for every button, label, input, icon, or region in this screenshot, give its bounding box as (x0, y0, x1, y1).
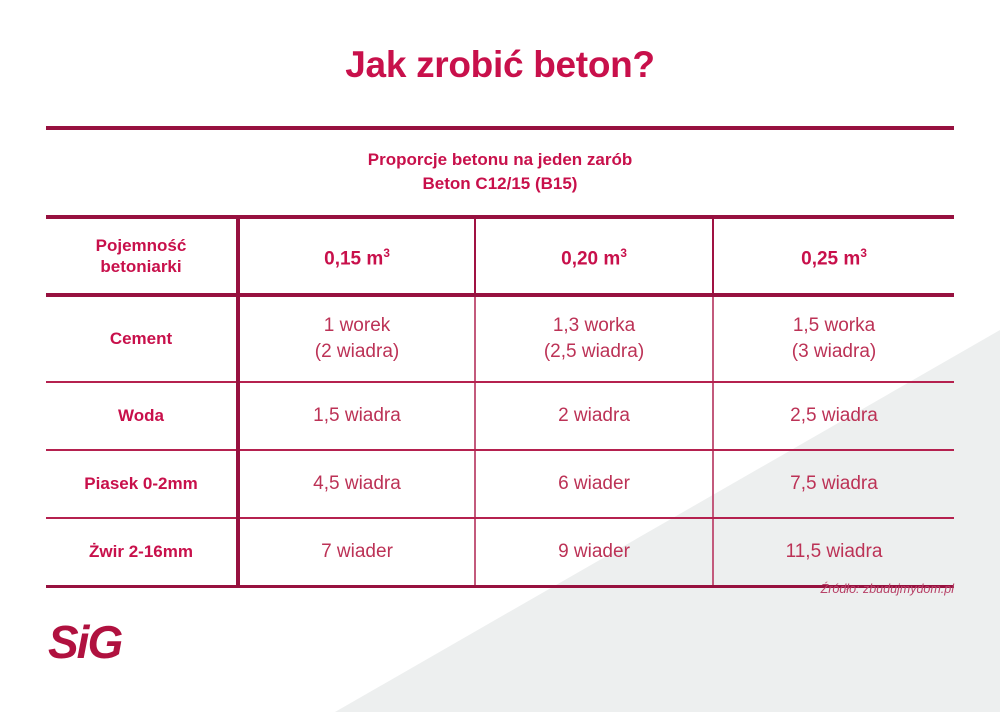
header-cell-volume-1: 0,15 m3 (238, 217, 475, 295)
subtitle-line-1: Proporcje betonu na jeden zarób (368, 150, 632, 169)
volume-2-unit: m (603, 248, 620, 269)
cell-woda-0_15: 1,5 wiadra (238, 382, 475, 450)
mixer-capacity-line-2: betoniarki (100, 257, 181, 276)
volume-2-value: 0,20 (561, 248, 598, 269)
subtitle-line-2: Beton C12/15 (B15) (0, 172, 1000, 196)
source-attribution: Źródło: zbudujmydom.pl (821, 582, 954, 596)
volume-3-unit: m (843, 248, 860, 269)
volume-3-value: 0,25 (801, 248, 838, 269)
table-row: Piasek 0-2mm 4,5 wiadra 6 wiader 7,5 wia… (46, 450, 954, 518)
row-label-cement: Cement (46, 295, 238, 382)
header-cell-mixer-capacity: Pojemność betoniarki (46, 217, 238, 295)
row-label-woda: Woda (46, 382, 238, 450)
header-cell-volume-2: 0,20 m3 (475, 217, 713, 295)
cell-main: 1 worek (324, 315, 391, 336)
table-row: Woda 1,5 wiadra 2 wiadra 2,5 wiadra (46, 382, 954, 450)
cell-main: 1,5 worka (793, 315, 875, 336)
volume-1-value: 0,15 (324, 248, 361, 269)
table-header-row: Pojemność betoniarki 0,15 m3 0,20 m3 0,2… (46, 217, 954, 295)
page-title: Jak zrobić beton? (0, 44, 1000, 86)
cell-cement-0_20: 1,3 worka (2,5 wiadra) (475, 295, 713, 382)
cell-sub: (2 wiadra) (240, 339, 474, 365)
cell-cement-0_15: 1 worek (2 wiadra) (238, 295, 475, 382)
cell-piasek-0_15: 4,5 wiadra (238, 450, 475, 518)
cell-cement-0_25: 1,5 worka (3 wiadra) (713, 295, 954, 382)
cell-zwir-0_20: 9 wiader (475, 518, 713, 587)
cell-zwir-0_25: 11,5 wiadra (713, 518, 954, 587)
cell-piasek-0_25: 7,5 wiadra (713, 450, 954, 518)
volume-3-exponent: 3 (860, 247, 867, 260)
cell-woda-0_20: 2 wiadra (475, 382, 713, 450)
header-cell-volume-3: 0,25 m3 (713, 217, 954, 295)
cell-piasek-0_20: 6 wiader (475, 450, 713, 518)
row-label-piasek: Piasek 0-2mm (46, 450, 238, 518)
volume-1-exponent: 3 (383, 247, 390, 260)
volume-1-unit: m (366, 248, 383, 269)
mixer-capacity-line-1: Pojemność (96, 236, 187, 255)
row-label-zwir: Żwir 2-16mm (46, 518, 238, 587)
cell-sub: (3 wiadra) (714, 339, 954, 365)
cell-main: 1,3 worka (553, 315, 635, 336)
cell-woda-0_25: 2,5 wiadra (713, 382, 954, 450)
sig-logo: SiG (48, 618, 158, 670)
infographic-page: Jak zrobić beton? Proporcje betonu na je… (0, 0, 1000, 712)
table-row: Cement 1 worek (2 wiadra) 1,3 worka (2,5… (46, 295, 954, 382)
volume-2-exponent: 3 (620, 247, 627, 260)
concrete-proportions-table: Pojemność betoniarki 0,15 m3 0,20 m3 0,2… (46, 215, 954, 588)
title-divider (46, 126, 954, 130)
cell-zwir-0_15: 7 wiader (238, 518, 475, 587)
proportions-table-container: Pojemność betoniarki 0,15 m3 0,20 m3 0,2… (46, 215, 954, 588)
table-row: Żwir 2-16mm 7 wiader 9 wiader 11,5 wiadr… (46, 518, 954, 587)
table-subtitle: Proporcje betonu na jeden zarób Beton C1… (0, 148, 1000, 196)
cell-sub: (2,5 wiadra) (476, 339, 712, 365)
sig-logo-text: SiG (48, 618, 122, 668)
